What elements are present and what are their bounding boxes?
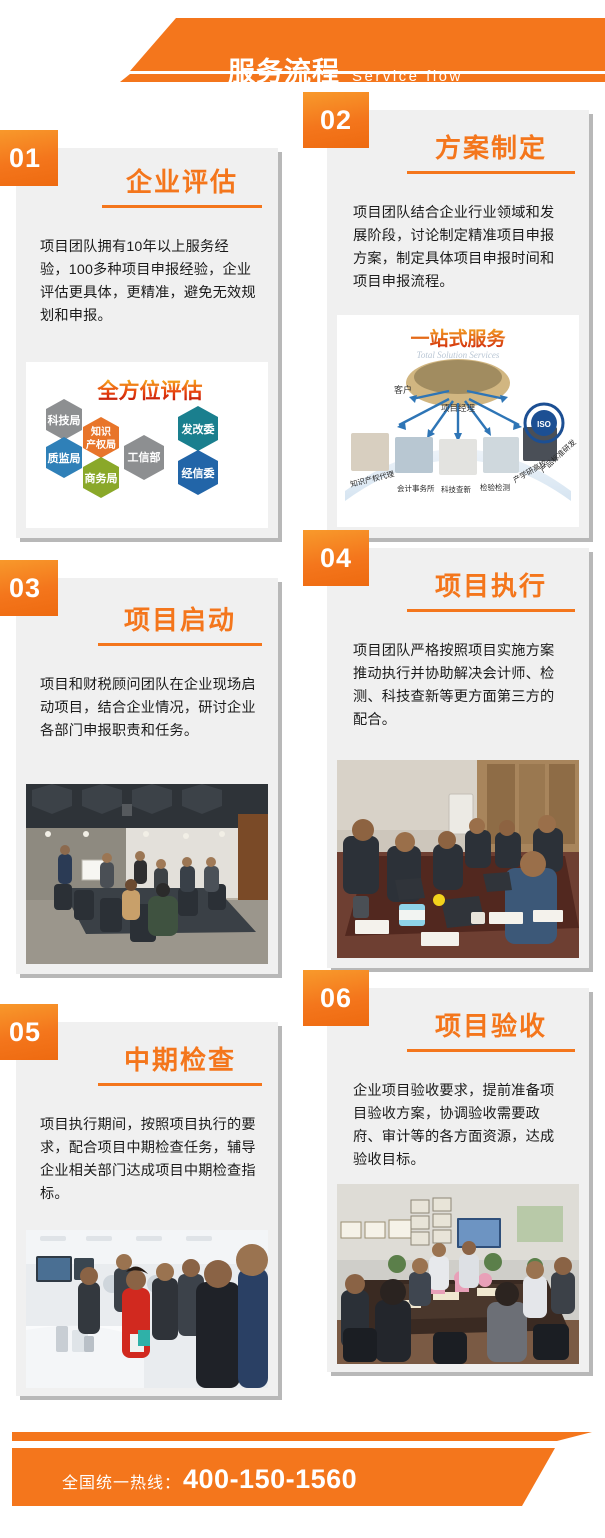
svg-text:科技局: 科技局 <box>48 413 81 427</box>
step-number-badge: 06 <box>303 970 369 1026</box>
hexagon-diagram-title: 全方位评估 <box>97 379 203 403</box>
svg-text:科技查新: 科技查新 <box>441 484 471 494</box>
step-title: 项目执行 <box>407 566 575 603</box>
step-card-06: 06 项目验收 企业项目验收要求，提前准备项目验收方案，协调验收需要政府、审计等… <box>327 988 589 1372</box>
svg-text:发改委: 发改委 <box>181 422 216 436</box>
header-title-group: 服务流程 Service flow <box>228 50 463 89</box>
page-title: 服务流程 <box>228 50 340 89</box>
step-card-03: 03 项目启动 项目和财税顾问团队在企业现场启动项目，结合企业情况，研讨企业各部… <box>16 578 278 974</box>
title-underline <box>102 205 262 208</box>
title-underline <box>407 609 575 612</box>
svg-text:知识: 知识 <box>90 425 111 438</box>
title-underline <box>407 171 575 174</box>
step-title: 项目启动 <box>98 600 262 637</box>
step-title-group: 项目验收 <box>407 1006 575 1052</box>
title-underline <box>98 643 262 646</box>
svg-text:客户: 客户 <box>394 384 412 395</box>
step-card-02: 02 方案制定 项目团队结合企业行业领域和发展阶段，讨论制定精准项目申报方案，制… <box>327 110 589 538</box>
svg-text:一站式服务: 一站式服务 <box>410 327 506 350</box>
svg-text:工信部: 工信部 <box>128 450 161 464</box>
step-title-group: 中期检查 <box>98 1040 262 1086</box>
step-description: 项目团队严格按照项目实施方案推动执行并协助解决会计师、检测、科技查新等更方面第三… <box>353 640 567 732</box>
svg-text:项目经理: 项目经理 <box>441 403 476 413</box>
step-title: 企业评估 <box>102 162 262 199</box>
title-underline <box>98 1083 262 1086</box>
step-description: 项目执行期间，按照项目执行的要求，配合项目中期检查任务，辅导企业相关部门达成项目… <box>40 1114 256 1206</box>
step-title: 方案制定 <box>407 128 575 165</box>
hexagon-diagram-figure: 全方位评估 科技局 知识 产权局 质监局 商务局 工信部 <box>26 362 268 528</box>
svg-text:Total Solution Services: Total Solution Services <box>417 350 500 360</box>
page-header-banner: 服务流程 Service flow <box>0 18 605 80</box>
project-acceptance-photo <box>337 1184 579 1364</box>
footer-text-group: 全国统一热线： 400-150-1560 <box>62 1464 357 1495</box>
title-underline <box>407 1049 575 1052</box>
footer-accent-line <box>12 1432 592 1441</box>
step-number-badge: 01 <box>0 130 58 186</box>
step-description: 项目和财税顾问团队在企业现场启动项目，结合企业情况，研讨企业各部门申报职责和任务… <box>40 674 256 743</box>
svg-text:产权局: 产权局 <box>86 438 116 451</box>
svg-text:ISO: ISO <box>537 420 551 429</box>
svg-text:质监局: 质监局 <box>48 451 81 465</box>
one-stop-service-figure: 一站式服务 Total Solution Services <box>337 315 579 527</box>
step-description: 项目团队拥有10年以上服务经验，100多种项目申报经验，企业评估更具体，更精准，… <box>40 236 256 328</box>
step-title-group: 方案制定 <box>407 128 575 174</box>
step-number-badge: 04 <box>303 530 369 586</box>
step-description: 项目团队结合企业行业领域和发展阶段，讨论制定精准项目申报方案，制定具体项目申报时… <box>353 202 567 294</box>
step-description: 企业项目验收要求，提前准备项目验收方案，协调验收需要政府、审计等的各方面资源，达… <box>353 1080 567 1172</box>
svg-text:经信委: 经信委 <box>182 466 216 480</box>
step-card-04: 04 项目执行 项目团队严格按照项目实施方案推动执行并协助解决会计师、检测、科技… <box>327 548 589 968</box>
page-subtitle: Service flow <box>352 68 463 85</box>
step-number-badge: 05 <box>0 1004 58 1060</box>
step-number-badge: 02 <box>303 92 369 148</box>
step-title-group: 项目执行 <box>407 566 575 612</box>
step-title-group: 项目启动 <box>98 600 262 646</box>
step-number-badge: 03 <box>0 560 58 616</box>
project-kickoff-photo <box>26 784 268 964</box>
svg-text:商务局: 商务局 <box>85 471 118 485</box>
hotline-label: 全国统一热线： <box>62 1469 181 1493</box>
footer-hotline-banner: 全国统一热线： 400-150-1560 <box>0 1432 605 1512</box>
hotline-number[interactable]: 400-150-1560 <box>183 1464 357 1495</box>
step-title-group: 企业评估 <box>102 162 262 208</box>
step-title: 项目验收 <box>407 1006 575 1043</box>
svg-text:会计事务所: 会计事务所 <box>397 483 435 493</box>
step-card-01: 01 企业评估 项目团队拥有10年以上服务经验，100多种项目申报经验，企业评估… <box>16 148 278 538</box>
step-card-05: 05 中期检查 项目执行期间，按照项目执行的要求，配合项目中期检查任务，辅导企业… <box>16 1022 278 1396</box>
midterm-inspection-photo <box>26 1230 268 1388</box>
svg-text:检验检测: 检验检测 <box>480 482 510 492</box>
step-title: 中期检查 <box>98 1040 262 1077</box>
project-execution-photo <box>337 760 579 958</box>
